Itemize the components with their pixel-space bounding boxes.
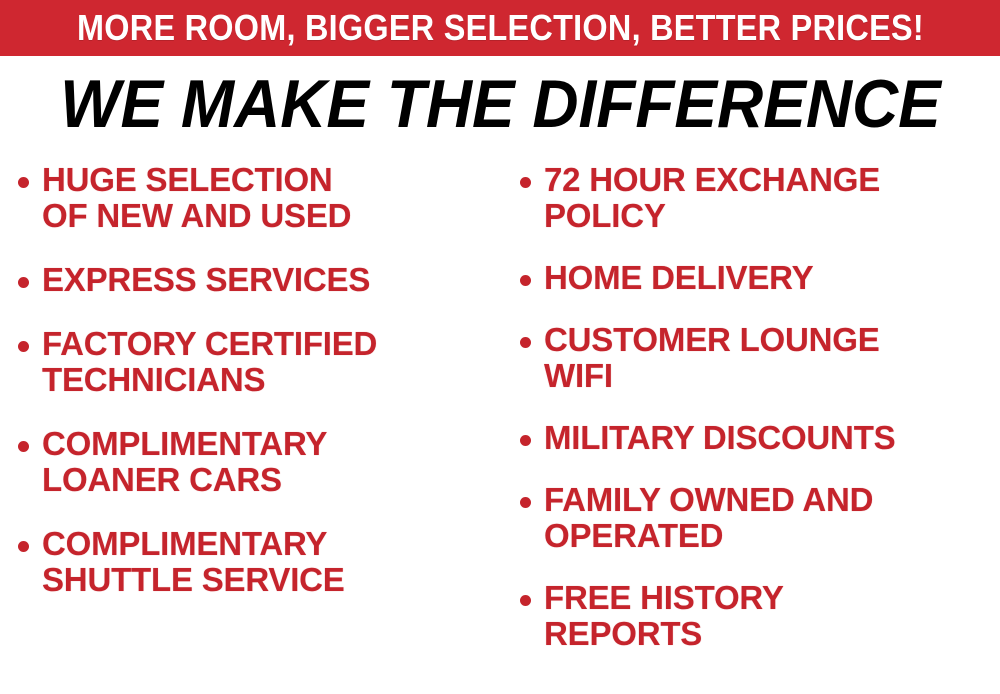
promotional-poster: MORE ROOM, BIGGER SELECTION, BETTER PRIC… bbox=[0, 0, 1000, 694]
list-item: HUGE SELECTION OF NEW AND USED bbox=[18, 162, 496, 234]
list-item-label: MILITARY DISCOUNTS bbox=[544, 420, 1000, 456]
bullet-dot-icon bbox=[520, 275, 531, 286]
list-item-label: 72 HOUR EXCHANGE POLICY bbox=[544, 162, 1000, 234]
headline-text: WE MAKE THE DIFFERENCE bbox=[60, 70, 941, 138]
headline: WE MAKE THE DIFFERENCE bbox=[0, 70, 1000, 138]
bullet-dot-icon bbox=[520, 337, 531, 348]
bullet-dot-icon bbox=[18, 277, 29, 288]
bullet-dot-icon bbox=[18, 177, 29, 188]
list-item: 72 HOUR EXCHANGE POLICY bbox=[520, 162, 1000, 234]
list-item: FAMILY OWNED AND OPERATED bbox=[520, 482, 1000, 554]
list-item: EXPRESS SERVICES bbox=[18, 262, 496, 298]
list-item: FACTORY CERTIFIED TECHNICIANS bbox=[18, 326, 496, 398]
bullet-dot-icon bbox=[18, 441, 29, 452]
list-item: COMPLIMENTARY SHUTTLE SERVICE bbox=[18, 526, 496, 598]
list-item-label: HUGE SELECTION OF NEW AND USED bbox=[42, 162, 496, 234]
bullet-dot-icon bbox=[18, 341, 29, 352]
list-item-label: HOME DELIVERY bbox=[544, 260, 1000, 296]
feature-list-right: 72 HOUR EXCHANGE POLICY HOME DELIVERY CU… bbox=[520, 162, 1000, 678]
list-item-label: COMPLIMENTARY SHUTTLE SERVICE bbox=[42, 526, 496, 598]
feature-list-left: HUGE SELECTION OF NEW AND USED EXPRESS S… bbox=[18, 162, 496, 626]
list-item-label: FACTORY CERTIFIED TECHNICIANS bbox=[42, 326, 496, 398]
top-banner: MORE ROOM, BIGGER SELECTION, BETTER PRIC… bbox=[0, 0, 1000, 56]
list-item-label: CUSTOMER LOUNGE WIFI bbox=[544, 322, 1000, 394]
list-item: MILITARY DISCOUNTS bbox=[520, 420, 1000, 456]
feature-columns: HUGE SELECTION OF NEW AND USED EXPRESS S… bbox=[0, 162, 1000, 694]
list-item: HOME DELIVERY bbox=[520, 260, 1000, 296]
top-banner-text: MORE ROOM, BIGGER SELECTION, BETTER PRIC… bbox=[77, 10, 924, 46]
list-item: CUSTOMER LOUNGE WIFI bbox=[520, 322, 1000, 394]
bullet-dot-icon bbox=[520, 595, 531, 606]
bullet-dot-icon bbox=[520, 435, 531, 446]
bullet-dot-icon bbox=[520, 497, 531, 508]
list-item: FREE HISTORY REPORTS bbox=[520, 580, 1000, 652]
bullet-dot-icon bbox=[18, 541, 29, 552]
list-item: COMPLIMENTARY LOANER CARS bbox=[18, 426, 496, 498]
list-item-label: FREE HISTORY REPORTS bbox=[544, 580, 1000, 652]
list-item-label: EXPRESS SERVICES bbox=[42, 262, 496, 298]
list-item-label: FAMILY OWNED AND OPERATED bbox=[544, 482, 1000, 554]
list-item-label: COMPLIMENTARY LOANER CARS bbox=[42, 426, 496, 498]
bullet-dot-icon bbox=[520, 177, 531, 188]
